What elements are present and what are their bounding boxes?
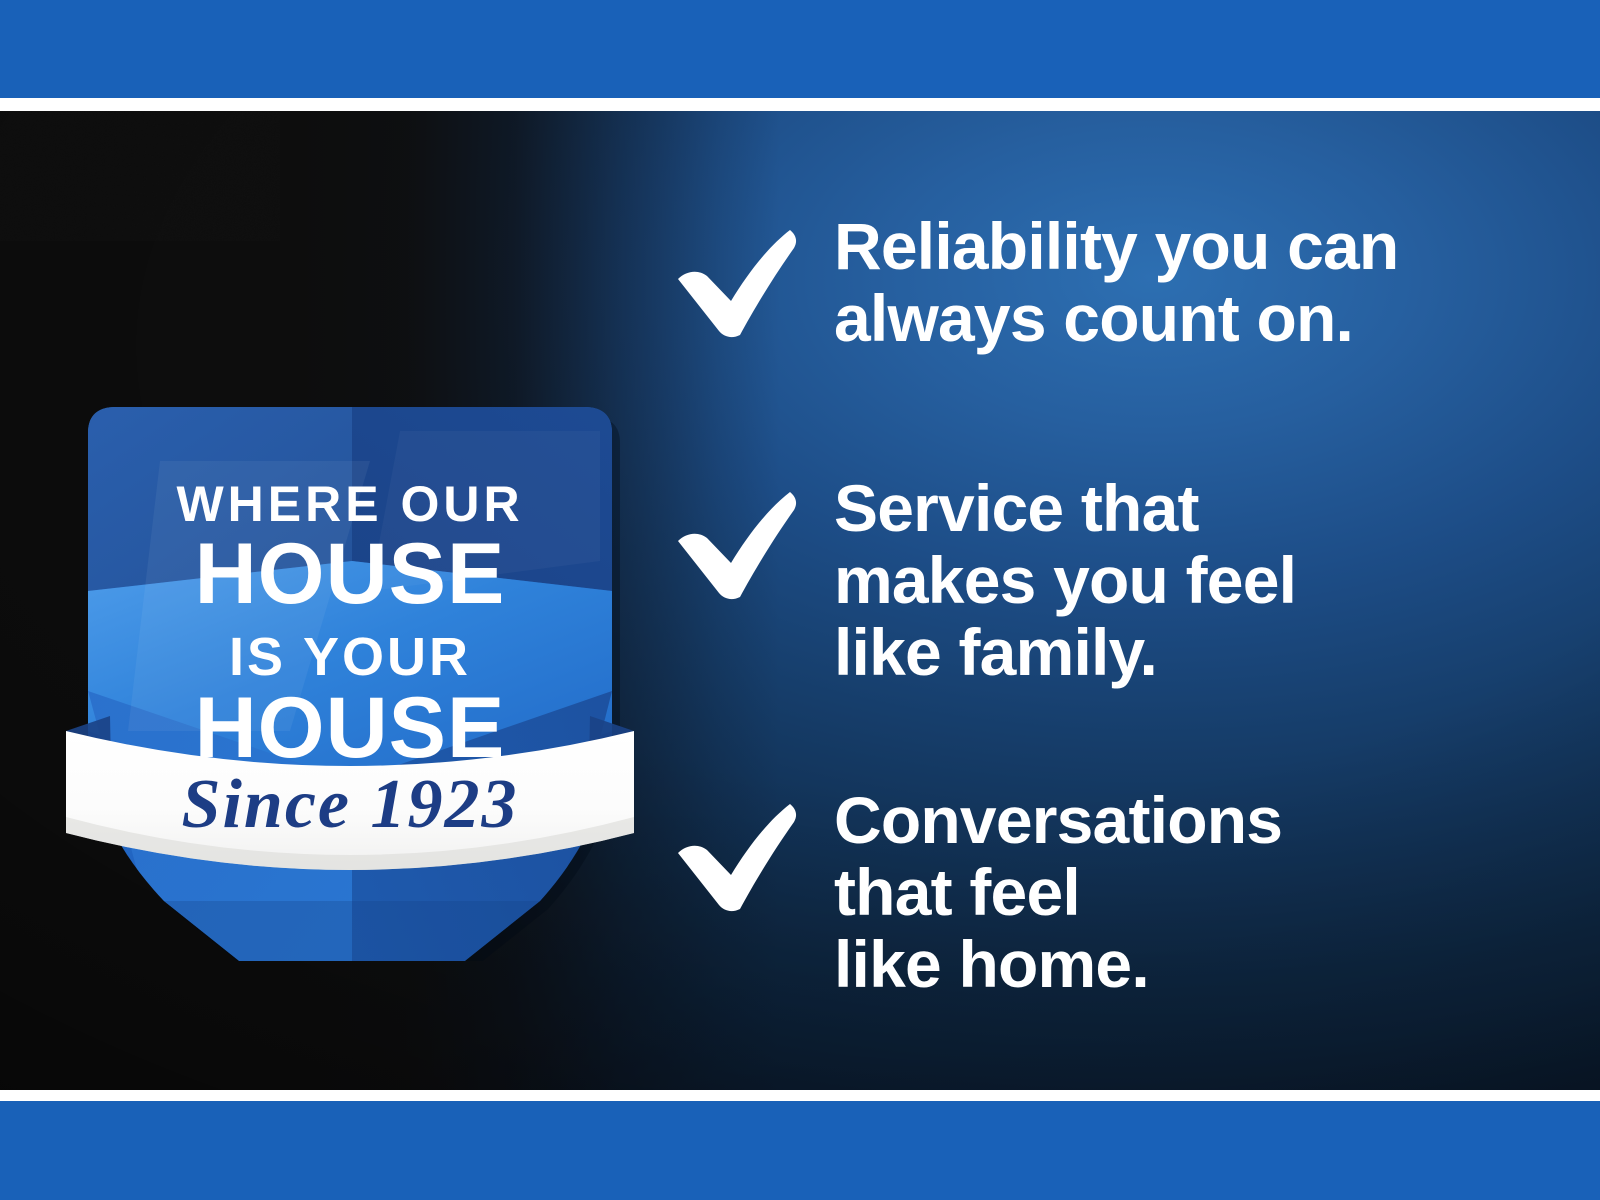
list-item: Service that makes you feel like family. bbox=[660, 473, 1560, 689]
checkmark-icon bbox=[674, 489, 800, 601]
emblem-line-1: WHERE OUR bbox=[176, 476, 523, 532]
emblem-line-3: IS YOUR bbox=[229, 627, 471, 687]
checkmark-icon bbox=[674, 801, 800, 913]
bottom-brand-bar bbox=[0, 1101, 1600, 1200]
emblem-line-2: HOUSE bbox=[195, 526, 506, 622]
background-noise-texture bbox=[0, 111, 280, 241]
list-item: Reliability you can always count on. bbox=[660, 211, 1560, 355]
promo-graphic: WHERE OUR HOUSE IS YOUR HOUSE bbox=[0, 0, 1600, 1200]
top-brand-bar bbox=[0, 0, 1600, 98]
main-stage: WHERE OUR HOUSE IS YOUR HOUSE bbox=[0, 111, 1600, 1090]
checkmark-icon bbox=[674, 227, 800, 339]
ribbon-script-text: Since 1923 bbox=[182, 766, 519, 843]
shield-emblem: WHERE OUR HOUSE IS YOUR HOUSE bbox=[40, 261, 660, 961]
list-item: Conversations that feel like home. bbox=[660, 785, 1560, 1001]
benefits-list: Reliability you can always count on. Ser… bbox=[660, 211, 1560, 1001]
